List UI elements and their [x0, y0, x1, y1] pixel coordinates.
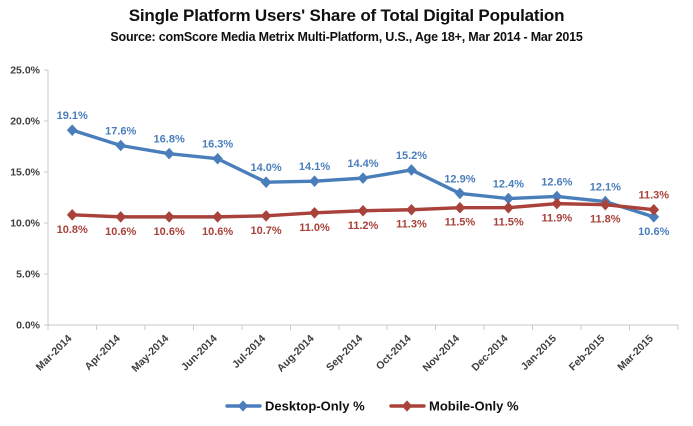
data-point-label: 14.1% — [299, 161, 330, 173]
data-point-label: 19.1% — [57, 110, 88, 122]
y-axis-tick-label: 15.0% — [10, 167, 40, 179]
x-axis-tick-label: Aug-2014 — [275, 333, 317, 375]
data-point-marker — [164, 148, 174, 158]
data-point-label: 11.2% — [348, 220, 379, 232]
data-point-label: 11.0% — [299, 222, 330, 234]
data-point-marker — [116, 212, 126, 222]
x-axis-tick-label: Sep-2014 — [324, 333, 365, 374]
x-axis-tick-label: Jun-2014 — [179, 333, 220, 374]
data-point-label: 11.3% — [396, 219, 427, 231]
x-axis-tick-label: Mar-2015 — [615, 333, 656, 374]
data-point-label: 10.8% — [57, 224, 88, 236]
x-axis: Mar-2014Apr-2014May-2014Jun-2014Jul-2014… — [34, 325, 678, 375]
data-point-label: 10.6% — [638, 226, 669, 238]
chart-container: Single Platform Users' Share of Total Di… — [0, 0, 693, 426]
data-point-marker — [455, 203, 465, 213]
data-point-label: 14.4% — [347, 158, 378, 170]
x-axis-tick-label: Nov-2014 — [421, 333, 463, 375]
data-point-label: 16.3% — [202, 139, 233, 151]
y-axis-tick-label: 5.0% — [16, 269, 41, 281]
data-point-marker — [358, 206, 368, 216]
legend-item-label[interactable]: Desktop-Only % — [265, 398, 365, 413]
chart-plot-area: 0.0%5.0%10.0%15.0%20.0%25.0% Mar-2014Apr… — [0, 0, 693, 426]
chart-legend: Desktop-Only %Mobile-Only % — [227, 398, 519, 413]
data-point-marker — [164, 212, 174, 222]
data-point-label: 12.4% — [493, 179, 524, 191]
x-axis-tick-label: Mar-2014 — [34, 333, 75, 374]
data-point-marker — [67, 125, 77, 135]
y-axis-tick-label: 10.0% — [10, 218, 40, 230]
x-axis-tick-label: May-2014 — [129, 333, 171, 375]
data-point-label: 17.6% — [105, 125, 136, 137]
data-point-marker — [310, 176, 320, 186]
data-point-label: 11.9% — [542, 213, 573, 225]
data-point-label: 16.8% — [154, 134, 185, 146]
data-point-label: 11.5% — [493, 217, 524, 229]
data-point-label: 12.1% — [590, 182, 621, 194]
x-axis-tick-label: Jul-2014 — [230, 333, 268, 371]
data-point-marker — [455, 188, 465, 198]
y-axis: 0.0%5.0%10.0%15.0%20.0%25.0% — [10, 65, 48, 332]
data-point-marker — [407, 165, 417, 175]
data-point-marker — [504, 203, 514, 213]
data-point-label: 10.6% — [154, 226, 185, 238]
data-point-marker — [116, 140, 126, 150]
x-axis-tick-label: Oct-2014 — [374, 333, 414, 373]
data-point-marker — [649, 205, 659, 215]
x-axis-tick-label: Apr-2014 — [83, 333, 123, 373]
data-point-marker — [213, 212, 223, 222]
data-point-label: 10.7% — [250, 225, 281, 237]
x-axis-tick-label: Dec-2014 — [469, 333, 510, 374]
x-axis-tick-label: Feb-2015 — [567, 333, 608, 374]
data-point-marker — [552, 198, 562, 208]
y-axis-tick-label: 20.0% — [10, 116, 40, 128]
data-point-marker — [358, 173, 368, 183]
legend-item-label[interactable]: Mobile-Only % — [429, 398, 519, 413]
data-point-label: 10.6% — [105, 226, 136, 238]
data-point-marker — [310, 208, 320, 218]
data-point-marker — [261, 177, 271, 187]
data-point-label: 15.2% — [396, 150, 427, 162]
data-point-label: 12.9% — [444, 173, 475, 185]
data-point-marker — [213, 154, 223, 164]
data-point-marker — [261, 211, 271, 221]
data-point-marker — [407, 205, 417, 215]
data-point-label: 12.6% — [541, 176, 572, 188]
data-point-marker — [67, 210, 77, 220]
data-point-label: 10.6% — [202, 226, 233, 238]
y-axis-tick-label: 0.0% — [16, 320, 41, 332]
data-point-label: 11.8% — [590, 214, 621, 226]
x-axis-tick-label: Jan-2015 — [519, 333, 559, 373]
data-point-label: 11.3% — [638, 190, 669, 202]
legend-swatch-marker — [238, 400, 248, 411]
data-point-label: 14.0% — [250, 162, 281, 174]
legend-swatch-marker — [402, 400, 412, 411]
y-axis-tick-label: 25.0% — [10, 65, 40, 77]
data-point-label: 11.5% — [445, 217, 476, 229]
